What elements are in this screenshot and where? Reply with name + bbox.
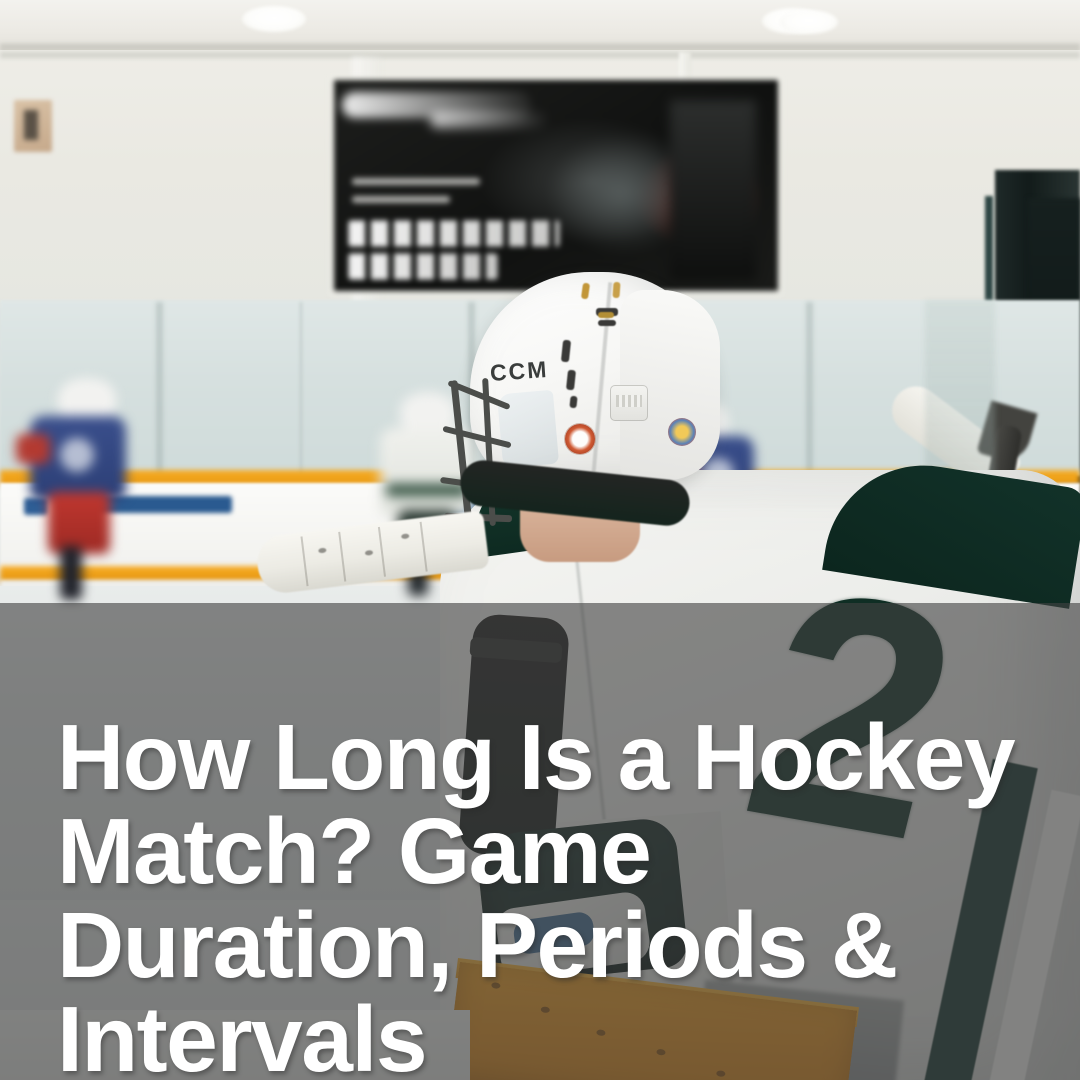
helmet-certification-sticker bbox=[565, 424, 595, 454]
helmet-vent bbox=[598, 312, 614, 318]
helmet-vent bbox=[569, 396, 577, 409]
helmet-logo-sticker bbox=[668, 418, 696, 446]
cage-bar bbox=[442, 426, 511, 449]
helmet-vent bbox=[612, 282, 620, 298]
helmet-adjuster-clip bbox=[610, 385, 648, 421]
poster-canvas: 2 CCM bbox=[0, 0, 1080, 1080]
helmet-vent bbox=[598, 320, 616, 326]
page-title: How Long Is a Hockey Match? Game Duratio… bbox=[57, 710, 1017, 1080]
